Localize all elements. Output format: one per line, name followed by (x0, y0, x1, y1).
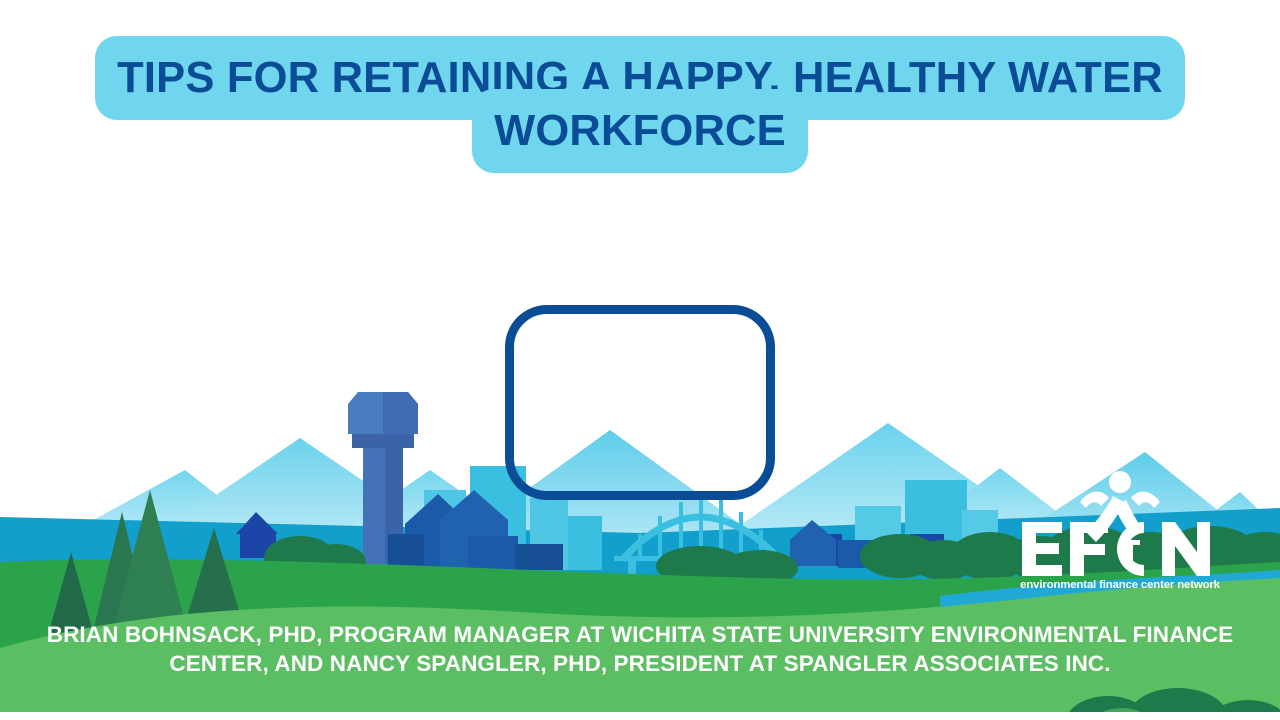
logo-tagline: environmental finance center network (1020, 579, 1221, 591)
play-button[interactable] (505, 305, 775, 500)
title-text: TIPS FOR RETAINING A HAPPY, HEALTHY WATE… (95, 36, 1185, 173)
speakers-text: BRIAN BOHNSACK, PHD, PROGRAM MANAGER AT … (40, 620, 1240, 679)
video-thumbnail-slide: TIPS FOR RETAINING A HAPPY, HEALTHY WATE… (0, 0, 1280, 720)
efcn-logo: environmental finance center network (1016, 470, 1224, 592)
bottom-strip (0, 712, 1280, 720)
page-title: TIPS FOR RETAINING A HAPPY, HEALTHY WATE… (0, 52, 1280, 158)
efcn-wordmark (1022, 522, 1210, 576)
